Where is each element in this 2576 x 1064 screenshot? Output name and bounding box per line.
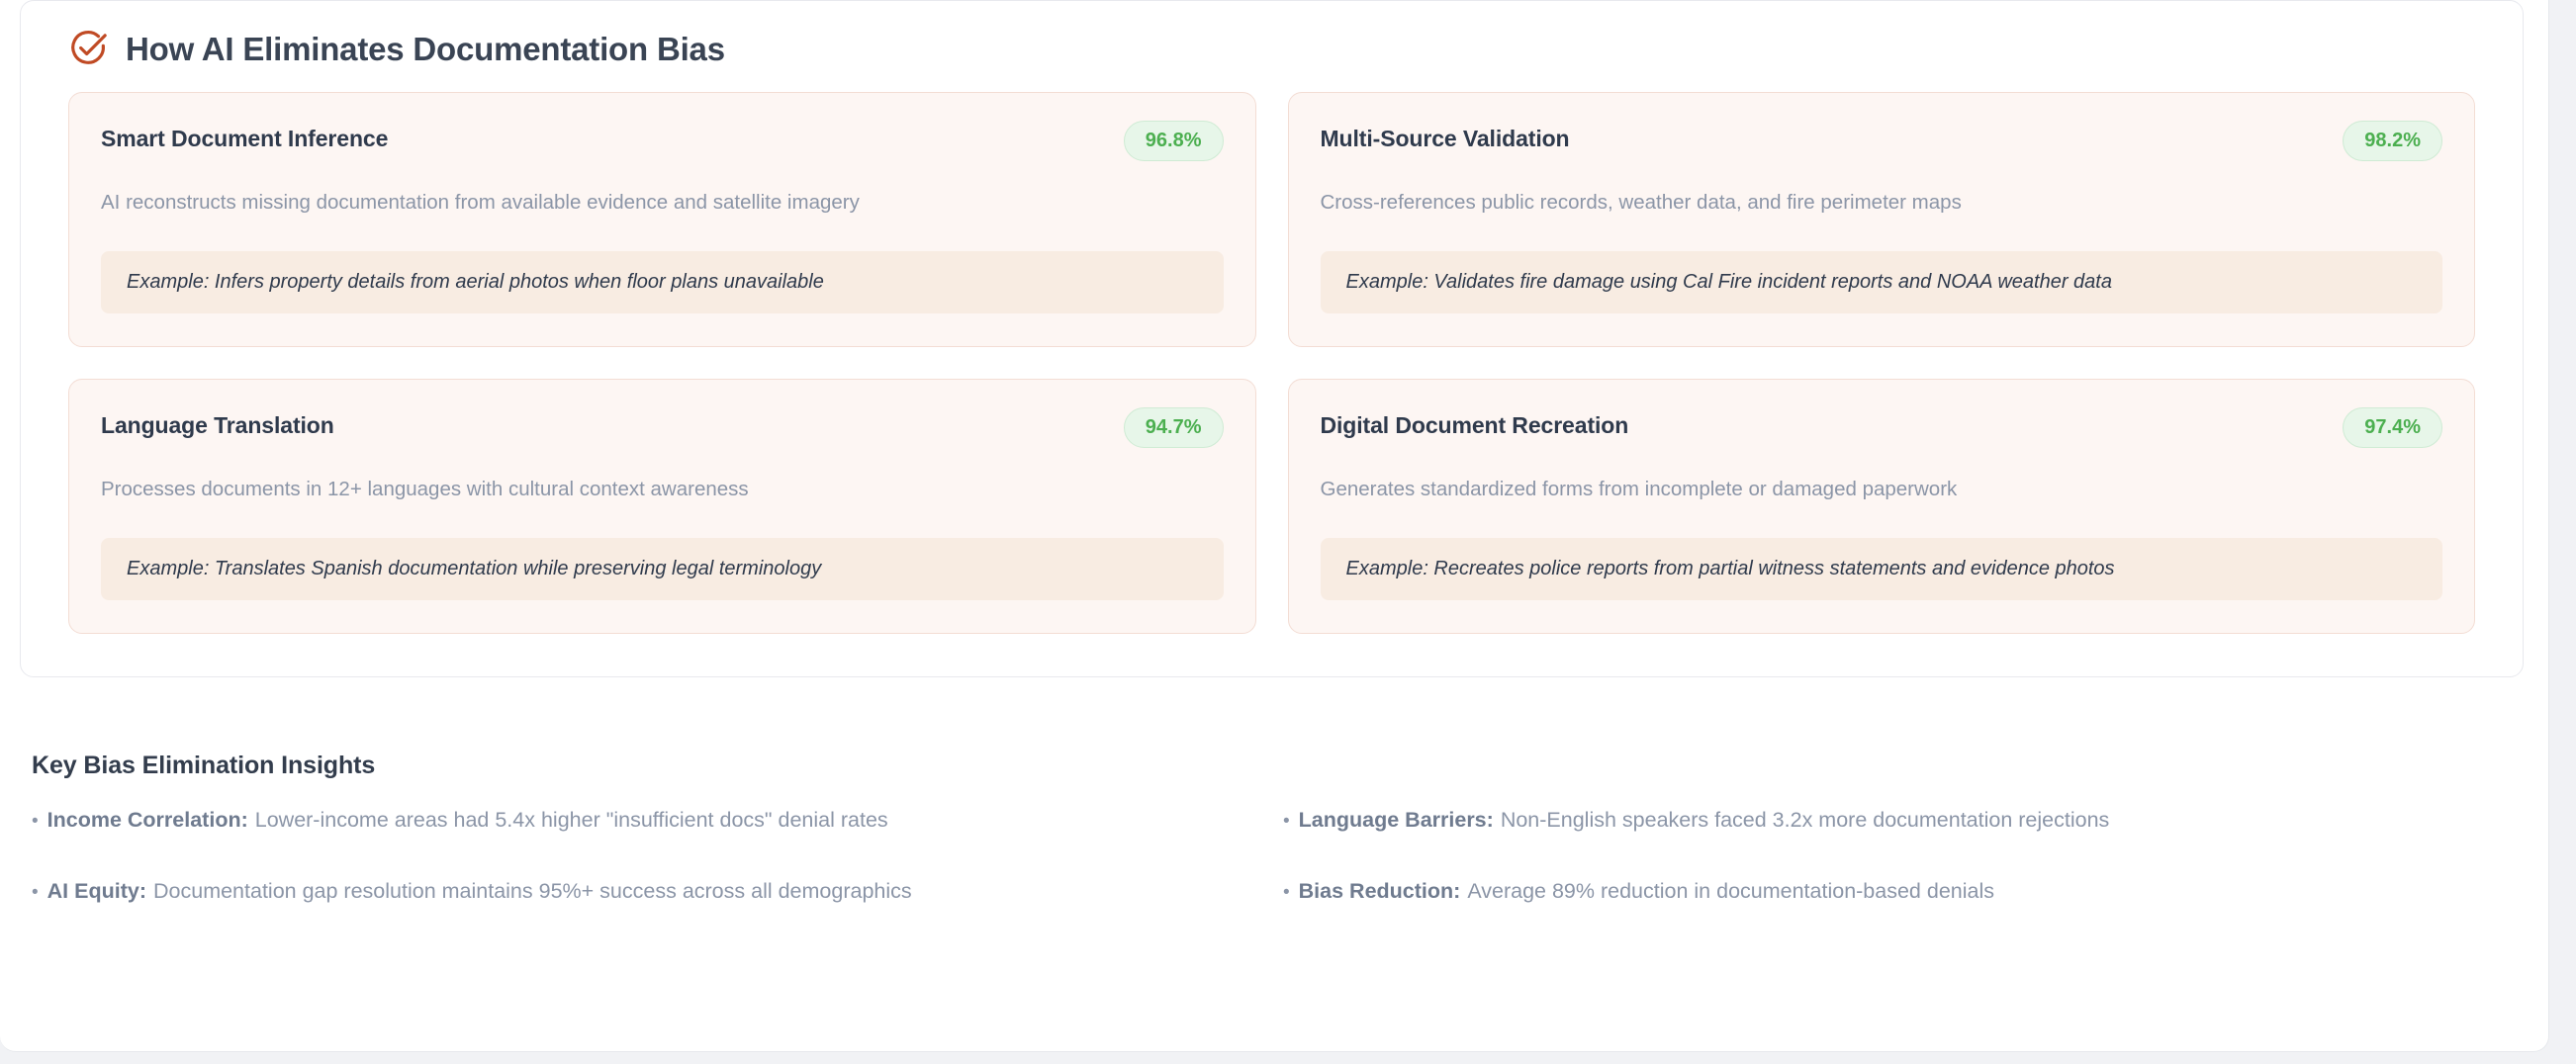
insight-body: Income Correlation:Lower-income areas ha… [47,806,888,835]
card-title: Language Translation [101,407,334,440]
insight-text: Documentation gap resolution maintains 9… [153,879,912,903]
accuracy-badge: 98.2% [2343,121,2442,161]
insight-item-language-barriers: • Language Barriers:Non-English speakers… [1283,806,2505,877]
card-header: Smart Document Inference 96.8% [101,121,1224,161]
feature-card-language-translation[interactable]: Language Translation 94.7% Processes doc… [68,379,1256,634]
accuracy-badge: 97.4% [2343,407,2442,448]
card-header: Language Translation 94.7% [101,407,1224,448]
card-title: Digital Document Recreation [1321,407,1629,440]
insight-body: Bias Reduction:Average 89% reduction in … [1299,877,1994,906]
insight-body: Language Barriers:Non-English speakers f… [1299,806,2110,835]
insight-label: Language Barriers: [1299,808,1494,832]
insight-text: Non-English speakers faced 3.2x more doc… [1501,808,2109,832]
card-header: Digital Document Recreation 97.4% [1321,407,2443,448]
insight-label: Income Correlation: [47,808,248,832]
insight-body: AI Equity:Documentation gap resolution m… [47,877,912,906]
insight-item-bias-reduction: • Bias Reduction:Average 89% reduction i… [1283,877,2505,948]
insight-text: Average 89% reduction in documentation-b… [1467,879,1994,903]
insight-item-income-correlation: • Income Correlation:Lower-income areas … [32,806,1253,877]
insight-label: AI Equity: [47,879,146,903]
insight-label: Bias Reduction: [1299,879,1461,903]
panel-header: How AI Eliminates Documentation Bias [21,1,2523,76]
accuracy-badge: 94.7% [1124,407,1224,448]
card-description: Cross-references public records, weather… [1321,189,2443,218]
bullet-icon: • [1283,883,1290,902]
bullet-icon: • [1283,812,1290,831]
documentation-bias-panel: How AI Eliminates Documentation Bias Sma… [20,0,2524,677]
insights-grid: • Income Correlation:Lower-income areas … [32,806,2505,948]
card-example: Example: Recreates police reports from p… [1321,538,2443,600]
bottom-divider [0,1051,2549,1052]
insight-item-ai-equity: • AI Equity:Documentation gap resolution… [32,877,1253,948]
card-example: Example: Validates fire damage using Cal… [1321,251,2443,313]
insights-title: Key Bias Elimination Insights [32,752,2505,780]
page-title: How AI Eliminates Documentation Bias [126,33,725,65]
circle-check-icon [68,29,108,68]
card-title: Smart Document Inference [101,121,388,153]
bullet-icon: • [32,883,39,902]
feature-card-smart-document-inference[interactable]: Smart Document Inference 96.8% AI recons… [68,92,1256,347]
card-example: Example: Translates Spanish documentatio… [101,538,1224,600]
page-card: How AI Eliminates Documentation Bias Sma… [0,0,2549,1052]
card-header: Multi-Source Validation 98.2% [1321,121,2443,161]
card-description: AI reconstructs missing documentation fr… [101,189,1224,218]
bullet-icon: • [32,812,39,831]
accuracy-badge: 96.8% [1124,121,1224,161]
insight-text: Lower-income areas had 5.4x higher "insu… [255,808,888,832]
key-insights-section: Key Bias Elimination Insights • Income C… [32,752,2505,948]
card-example: Example: Infers property details from ae… [101,251,1224,313]
feature-card-multi-source-validation[interactable]: Multi-Source Validation 98.2% Cross-refe… [1288,92,2476,347]
card-description: Generates standardized forms from incomp… [1321,476,2443,504]
feature-card-digital-document-recreation[interactable]: Digital Document Recreation 97.4% Genera… [1288,379,2476,634]
card-description: Processes documents in 12+ languages wit… [101,476,1224,504]
feature-cards-grid: Smart Document Inference 96.8% AI recons… [21,76,2523,634]
card-title: Multi-Source Validation [1321,121,1570,153]
